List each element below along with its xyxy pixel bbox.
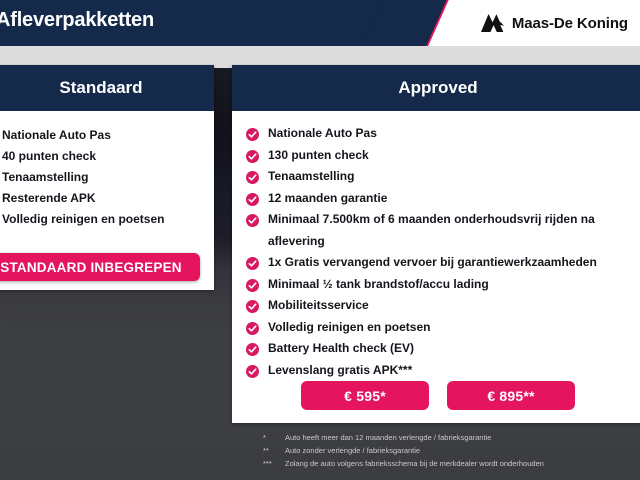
brand-lockup: Maas-De Koning xyxy=(479,13,628,33)
list-item: Minimaal ½ tank brandstof/accu lading xyxy=(246,274,636,296)
list-item-label: 12 maanden garantie xyxy=(268,191,387,205)
check-circle-icon xyxy=(246,321,259,334)
approved-package-card: Approved Nationale Auto Pas 130 punten c… xyxy=(232,65,640,423)
check-circle-icon xyxy=(246,192,259,205)
list-item: Volledig reinigen en poetsen xyxy=(2,209,214,230)
check-circle-icon xyxy=(246,213,259,226)
list-item-label: Battery Health check (EV) xyxy=(268,341,414,355)
list-item-label: Mobiliteitsservice xyxy=(268,298,369,312)
page-header: Afleverpakketten Maas-De Koning xyxy=(0,0,640,46)
footnote-marker: ** xyxy=(263,444,285,457)
footnote-marker: *** xyxy=(263,457,285,470)
footnote-row: *** Zolang de auto volgens fabrieksschem… xyxy=(263,457,640,470)
list-item-label: 130 punten check xyxy=(268,148,369,162)
list-item-label: 1x Gratis vervangend vervoer bij garanti… xyxy=(268,255,597,269)
list-item: 130 punten check xyxy=(246,145,636,167)
maas-de-koning-m-logo-icon xyxy=(479,13,505,33)
list-item: Nationale Auto Pas xyxy=(246,123,636,145)
list-item: Tenaamstelling xyxy=(246,166,636,188)
check-circle-icon xyxy=(246,364,259,377)
list-item: 12 maanden garantie xyxy=(246,188,636,210)
list-item: Resterende APK xyxy=(2,188,214,209)
check-circle-icon xyxy=(246,256,259,269)
footnote-row: ** Auto zonder verlengde / fabrieksgaran… xyxy=(263,444,640,457)
list-item-label: Tenaamstelling xyxy=(268,169,354,183)
price-button-595[interactable]: € 595* xyxy=(301,381,429,410)
list-item-label: Levenslang gratis APK*** xyxy=(268,363,412,377)
brand-name: Maas-De Koning xyxy=(512,15,628,32)
slide-canvas: Afleverpakketten Maas-De Koning Standaar… xyxy=(0,0,640,480)
list-item: Tenaamstelling xyxy=(2,167,214,188)
standaard-card-heading: Standaard xyxy=(0,65,214,111)
check-circle-icon xyxy=(246,342,259,355)
standaard-feature-list: Nationale Auto Pas 40 punten check Tenaa… xyxy=(0,111,214,230)
standaard-inbegrepen-badge: STANDAARD INBEGREPEN xyxy=(0,253,200,281)
footnotes: * Auto heeft meer dan 12 maanden verleng… xyxy=(263,431,640,470)
check-circle-icon xyxy=(246,299,259,312)
check-circle-icon xyxy=(246,170,259,183)
page-title: Afleverpakketten xyxy=(0,9,154,32)
list-item: Mobiliteitsservice xyxy=(246,295,636,317)
footnote-text: Auto heeft meer dan 12 maanden verlengde… xyxy=(285,431,491,444)
check-circle-icon xyxy=(246,278,259,291)
list-item: Battery Health check (EV) xyxy=(246,338,636,360)
footnote-text: Auto zonder verlengde / fabrieksgarantie xyxy=(285,444,420,457)
approved-card-heading: Approved xyxy=(232,65,640,111)
list-item-label: Minimaal 7.500km of 6 maanden onderhouds… xyxy=(268,212,595,248)
list-item-label: Volledig reinigen en poetsen xyxy=(268,320,430,334)
list-item: Minimaal 7.500km of 6 maanden onderhouds… xyxy=(246,209,636,252)
footnote-row: * Auto heeft meer dan 12 maanden verleng… xyxy=(263,431,640,444)
list-item: 1x Gratis vervangend vervoer bij garanti… xyxy=(246,252,636,274)
check-circle-icon xyxy=(246,127,259,140)
check-circle-icon xyxy=(246,149,259,162)
price-button-row: € 595* € 895** xyxy=(232,381,640,410)
footnote-text: Zolang de auto volgens fabrieksschema bi… xyxy=(285,457,544,470)
footnote-marker: * xyxy=(263,431,285,444)
list-item-label: Minimaal ½ tank brandstof/accu lading xyxy=(268,277,489,291)
list-item: Levenslang gratis APK*** xyxy=(246,360,636,382)
list-item: Nationale Auto Pas xyxy=(2,125,214,146)
list-item: 40 punten check xyxy=(2,146,214,167)
list-item-label: Nationale Auto Pas xyxy=(268,126,377,140)
price-button-895[interactable]: € 895** xyxy=(447,381,575,410)
list-item: Volledig reinigen en poetsen xyxy=(246,317,636,339)
approved-feature-list: Nationale Auto Pas 130 punten check Tena… xyxy=(232,111,640,381)
